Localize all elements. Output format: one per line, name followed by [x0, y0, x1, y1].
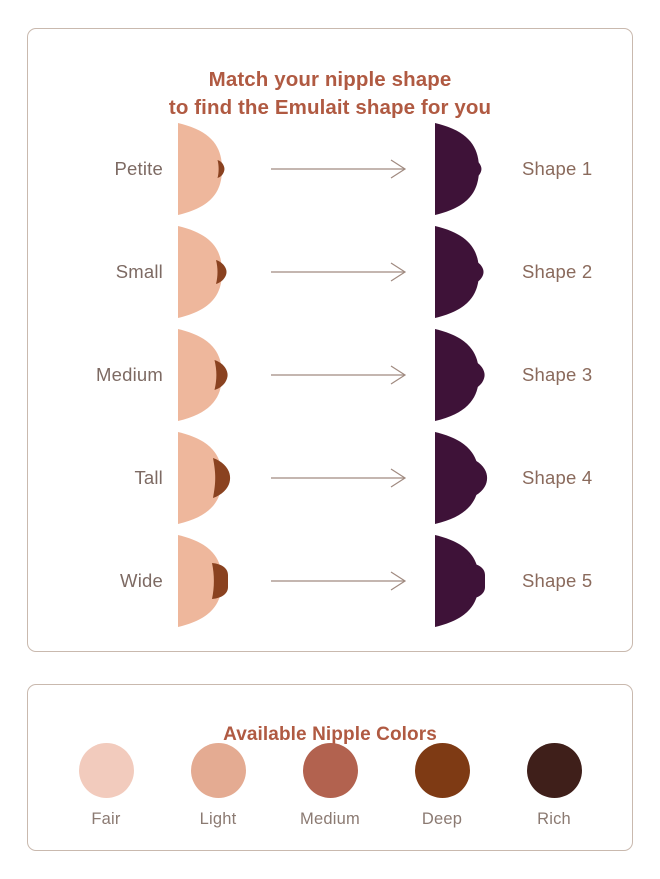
nipple-size-label: Tall [28, 467, 176, 489]
nipple-shape-guide: Match your nipple shape to find the Emul… [0, 0, 660, 879]
shape-card-title-line1: Match your nipple shape [209, 68, 452, 91]
arrow-right-icon [271, 570, 411, 592]
bottle-nipple-illustration-4 [433, 430, 505, 526]
breast-illustration-petite [176, 121, 248, 217]
bottle-nipple-shape-2-icon [433, 224, 485, 320]
breast-small-icon [176, 224, 228, 320]
breast-illustration-wide [176, 533, 248, 629]
breast-tall-icon [176, 430, 228, 526]
breast-illustration-tall [176, 430, 248, 526]
bottle-nipple-shape-5-icon [433, 533, 485, 629]
emulait-shape-label: Shape 3 [505, 364, 632, 386]
emulait-shape-label: Shape 2 [505, 261, 632, 283]
swatch-dot-light [191, 743, 246, 798]
swatch-dot-rich [527, 743, 582, 798]
swatch-label-light: Light [200, 810, 237, 829]
shape-row: Tall [28, 426, 632, 529]
shape-row-list: Petite [28, 117, 632, 632]
available-colors-card: Available Nipple Colors Fair Light Mediu… [27, 684, 633, 851]
swatch-dot-medium [303, 743, 358, 798]
swatch-dot-deep [415, 743, 470, 798]
match-arrow [248, 261, 433, 283]
arrow-right-icon [271, 364, 411, 386]
arrow-right-icon [271, 261, 411, 283]
breast-illustration-medium [176, 327, 248, 423]
bottle-nipple-shape-3-icon [433, 327, 485, 423]
shape-card-title: Match your nipple shape to find the Emul… [28, 66, 632, 122]
shape-row: Wide [28, 529, 632, 632]
color-swatch-rich: Rich [506, 743, 602, 829]
breast-medium-icon [176, 327, 228, 423]
shape-row: Small [28, 220, 632, 323]
match-arrow [248, 158, 433, 180]
swatch-dot-fair [79, 743, 134, 798]
bottle-nipple-illustration-2 [433, 224, 505, 320]
color-swatch-list: Fair Light Medium Deep Rich [50, 743, 610, 829]
bottle-nipple-shape-4-icon [433, 430, 485, 526]
color-swatch-light: Light [170, 743, 266, 829]
color-swatch-deep: Deep [394, 743, 490, 829]
color-swatch-medium: Medium [282, 743, 378, 829]
emulait-shape-label: Shape 5 [505, 570, 632, 592]
swatch-label-rich: Rich [537, 810, 571, 829]
breast-petite-icon [176, 121, 228, 217]
swatch-label-fair: Fair [91, 810, 120, 829]
color-swatch-fair: Fair [58, 743, 154, 829]
match-arrow [248, 364, 433, 386]
bottle-nipple-illustration-3 [433, 327, 505, 423]
emulait-shape-label: Shape 4 [505, 467, 632, 489]
emulait-shape-label: Shape 1 [505, 158, 632, 180]
bottle-nipple-illustration-5 [433, 533, 505, 629]
shape-match-card: Match your nipple shape to find the Emul… [27, 28, 633, 652]
bottle-nipple-shape-1-icon [433, 121, 485, 217]
nipple-size-label: Wide [28, 570, 176, 592]
nipple-size-label: Petite [28, 158, 176, 180]
nipple-size-label: Medium [28, 364, 176, 386]
nipple-size-label: Small [28, 261, 176, 283]
shape-row: Petite [28, 117, 632, 220]
swatch-label-medium: Medium [300, 810, 360, 829]
arrow-right-icon [271, 467, 411, 489]
swatch-label-deep: Deep [422, 810, 462, 829]
breast-illustration-small [176, 224, 248, 320]
match-arrow [248, 467, 433, 489]
match-arrow [248, 570, 433, 592]
bottle-nipple-illustration-1 [433, 121, 505, 217]
shape-row: Medium [28, 323, 632, 426]
breast-wide-icon [176, 533, 228, 629]
arrow-right-icon [271, 158, 411, 180]
